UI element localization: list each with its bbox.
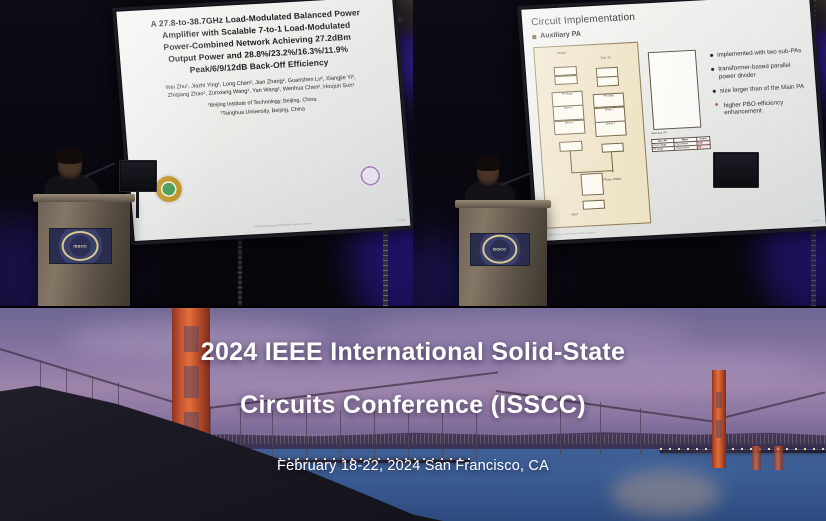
bridge-deck — [660, 450, 826, 453]
diagram-label-output: Output — [557, 50, 566, 54]
unit-cell-schematic — [648, 50, 702, 131]
bullet-dot-icon — [710, 53, 713, 56]
podium-top — [455, 200, 552, 208]
device-sizing-panel: Main Aux. PA Aux. PA Waux Count Driver S… — [644, 38, 717, 223]
slide-title: A 27.8-to-38.7GHz Load-Modulated Balance… — [127, 6, 387, 80]
phase-shifter-block — [580, 172, 604, 195]
projection-screen-left: A 27.8-to-38.7GHz Load-Modulated Balance… — [112, 0, 413, 245]
screen-surface: A 27.8-to-38.7GHz Load-Modulated Balance… — [116, 0, 410, 241]
screen-surface: Circuit Implementation Auxiliary PA Outp… — [521, 0, 826, 241]
bullet-item-conclusion: ➧ higher PBO-efficiency enhancement — [714, 97, 809, 117]
slide-body: Output Aux. 2a PA Stage Driver 1 Driver … — [533, 33, 816, 229]
bullet-text: size larger than of the Main PA — [720, 83, 805, 95]
podium-top — [33, 194, 134, 202]
water-reflection — [611, 470, 721, 516]
driver2-block: Driver 2 — [595, 121, 627, 137]
slide-page-number: 1 of 24 — [397, 219, 405, 222]
podium-sign-text: ISSCC — [74, 243, 88, 248]
monitor-stand — [136, 190, 139, 218]
device-sizing-table: Aux. PA Waux Count Driver Stage 70μm/Wmi… — [651, 136, 711, 152]
bullet-item: size larger than of the Main PA — [713, 83, 807, 96]
table-caption: Main Aux. PA — [651, 131, 667, 135]
slide-content-title: A 27.8-to-38.7GHz Load-Modulated Balance… — [116, 0, 410, 241]
slide-page-number: 11 of 24 — [811, 219, 820, 222]
tsinghua-logo-icon — [359, 164, 383, 187]
confidence-monitor — [713, 152, 759, 188]
podium-sign-text: ISSCC — [493, 247, 507, 252]
transformer-coil — [555, 75, 578, 85]
left-photo: A 27.8-to-38.7GHz Load-Modulated Balance… — [0, 0, 413, 308]
bullet-dot-icon — [711, 68, 714, 71]
podium-sign: ISSCC — [49, 228, 112, 263]
interconnect-wire — [569, 151, 572, 173]
transformer-coil — [560, 141, 583, 151]
conference-banner: 2024 IEEE International Solid-State Circ… — [0, 308, 826, 521]
podium-right: ISSCC — [459, 206, 547, 308]
interconnect-wire — [611, 152, 613, 172]
bullet-list: implemented with two sub-PAs transformer… — [709, 33, 816, 219]
photo-strip: A 27.8-to-38.7GHz Load-Modulated Balance… — [0, 0, 826, 308]
confidence-monitor — [119, 160, 157, 192]
table-cell: PA Stage — [652, 147, 674, 152]
bullet-text: transformer-based parallel power divider — [718, 61, 806, 81]
transformer-coil — [596, 76, 619, 86]
stage-truss — [238, 232, 242, 308]
table-cell-highlight: 88 — [697, 145, 711, 150]
podium-left: ISSCC — [38, 200, 130, 308]
section-label-text: Auxiliary PA — [540, 31, 581, 40]
banner-title-line1: 2024 IEEE International Solid-State — [0, 338, 826, 367]
transformer-coil — [601, 143, 624, 153]
bullet-item: transformer-based parallel power divider — [711, 61, 806, 81]
diagram-label-phase-shifter: Phase Shifter — [603, 177, 621, 182]
right-photo: Circuit Implementation Auxiliary PA Outp… — [413, 0, 826, 308]
bridge-deck-lights — [660, 448, 826, 450]
diagram-label-input: Input — [571, 212, 578, 216]
banner-title-line2: Circuits Conference (ISSCC) — [0, 391, 826, 420]
screenshot-root: A 27.8-to-38.7GHz Load-Modulated Balance… — [0, 0, 826, 521]
speaker-hair — [56, 148, 84, 164]
slide-footer: 2024 IEEE International Solid-State Circ… — [542, 232, 596, 238]
speaker-hair — [475, 156, 501, 171]
bullet-item: implemented with two sub-PAs — [710, 47, 804, 60]
projection-screen-right: Circuit Implementation Auxiliary PA Outp… — [517, 0, 826, 245]
arrow-right-icon: ➧ — [714, 102, 720, 109]
bit-logo-icon — [155, 176, 183, 203]
bullet-text: implemented with two sub-PAs — [717, 47, 802, 59]
podium-sign: ISSCC — [470, 233, 530, 267]
bullet-square-icon — [532, 35, 536, 39]
transformer-coil — [582, 199, 605, 209]
banner-subtitle: February 18-22, 2024 San Francisco, CA — [0, 458, 826, 474]
slide-content-circuit: Circuit Implementation Auxiliary PA Outp… — [521, 0, 826, 241]
tower-opening — [716, 420, 722, 438]
bullet-dot-icon — [713, 90, 716, 93]
table-cell: 104μm/Wmin — [674, 146, 697, 151]
driver2-block: Driver 2 — [554, 119, 586, 135]
diagram-label-aux: Aux. 2a — [601, 55, 611, 60]
bullet-text: higher PBO-efficiency enhancement — [723, 97, 808, 117]
